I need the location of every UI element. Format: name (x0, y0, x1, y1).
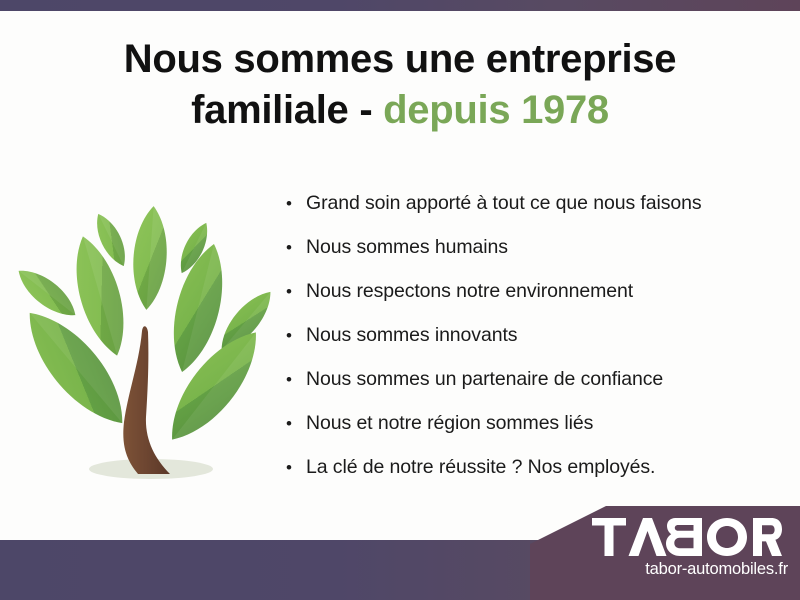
slide: Nous sommes une entreprise familiale - d… (0, 0, 800, 600)
page-title-line-2: familiale - depuis 1978 (0, 85, 800, 136)
page-title: Nous sommes une entreprise familiale - d… (0, 34, 800, 136)
brand-website-url[interactable]: tabor-automobiles.fr (530, 560, 800, 579)
list-item-label: Grand soin apporté à tout ce que nous fa… (306, 192, 702, 215)
page-title-plain: familiale - (191, 88, 383, 132)
list-item-label: Nous sommes humains (306, 236, 508, 259)
top-accent-band (0, 0, 800, 11)
list-item: • Nous respectons notre environnement (286, 280, 776, 324)
bullet-icon: • (286, 459, 306, 476)
brand-logo-panel[interactable]: tabor-automobiles.fr (530, 506, 800, 600)
list-item: • Nous sommes un partenaire de confiance (286, 368, 776, 412)
list-item: • Nous sommes innovants (286, 324, 776, 368)
list-item-label: La clé de notre réussite ? Nos employés. (306, 456, 655, 479)
page-title-line-1: Nous sommes une entreprise (0, 34, 800, 85)
tree-leaf-far-left (18, 261, 83, 324)
list-item-label: Nous sommes un partenaire de confiance (306, 368, 663, 391)
list-item: • Nous sommes humains (286, 236, 776, 280)
bullet-icon: • (286, 327, 306, 344)
list-item-label: Nous sommes innovants (306, 324, 517, 347)
tabor-wordmark-icon (592, 518, 782, 556)
bullet-icon: • (286, 283, 306, 300)
page-title-accent: depuis 1978 (383, 88, 609, 132)
tree-illustration (18, 186, 274, 490)
bullet-icon: • (286, 239, 306, 256)
tree-leaf-lower-right (155, 319, 273, 453)
list-item-label: Nous respectons notre environnement (306, 280, 633, 303)
tree-trunk (123, 326, 170, 474)
list-item: • La clé de notre réussite ? Nos employé… (286, 456, 776, 500)
tree-leaf-top-center (130, 205, 170, 311)
value-list: • Grand soin apporté à tout ce que nous … (286, 192, 776, 500)
list-item: • Grand soin apporté à tout ce que nous … (286, 192, 776, 236)
list-item: • Nous et notre région sommes liés (286, 412, 776, 456)
bullet-icon: • (286, 415, 306, 432)
list-item-label: Nous et notre région sommes liés (306, 412, 593, 435)
bullet-icon: • (286, 371, 306, 388)
bullet-icon: • (286, 195, 306, 212)
